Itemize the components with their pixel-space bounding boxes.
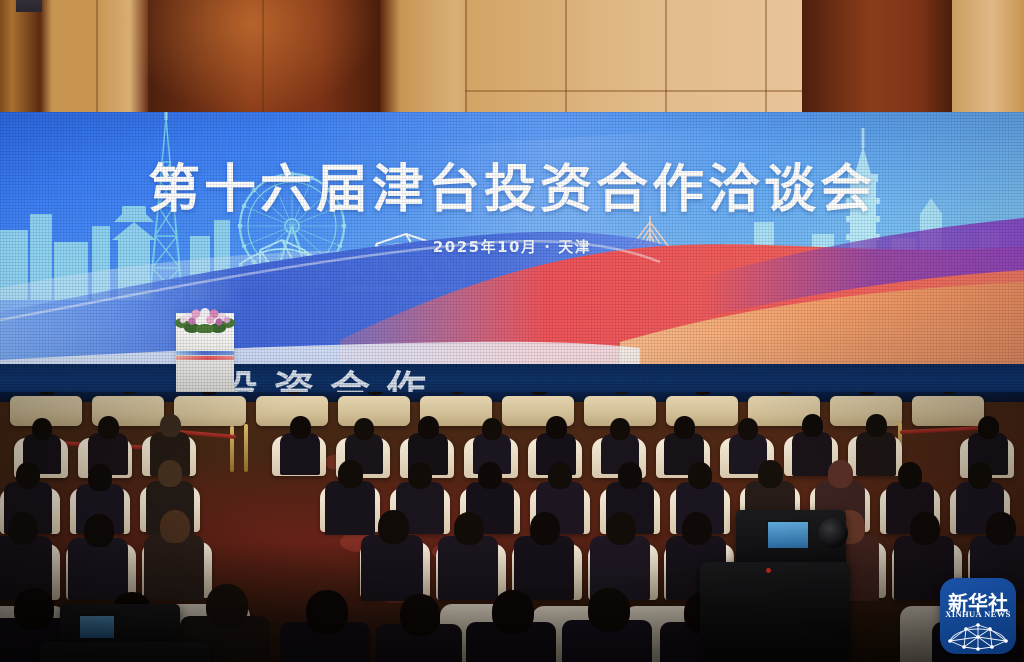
vip-seat <box>912 396 984 426</box>
wall-panel-dark-right <box>802 0 952 118</box>
video-camera <box>700 562 850 662</box>
wall-panel-far-right <box>952 0 1024 118</box>
speaker-podium <box>176 299 234 392</box>
stanchion-post <box>244 424 248 472</box>
led-backdrop-screen: 第十六届津台投资合作洽谈会 2025年10月 · 天津 <box>0 112 1024 392</box>
audience-hall <box>0 392 1024 662</box>
camera-record-light <box>766 568 771 573</box>
watermark-en-text: XINHUA NEWS <box>940 609 1016 619</box>
podium-flower-arrangement <box>174 303 236 333</box>
event-subtitle: 2025年10月 · 天津 <box>0 236 1024 257</box>
vip-seat <box>338 396 410 426</box>
podium-stripe-red <box>176 356 234 360</box>
speaker-at-podium <box>16 0 42 10</box>
podium-stripe-blue <box>176 351 234 355</box>
video-camera <box>40 642 210 662</box>
wall-light-glow <box>120 0 380 118</box>
event-title: 第十六届津台投资合作洽谈会 <box>0 164 1024 216</box>
xinhua-news-watermark: 新华社 XINHUA NEWS <box>940 578 1016 654</box>
screen-title-block: 第十六届津台投资合作洽谈会 2025年10月 · 天津 <box>0 164 1024 257</box>
vip-seat <box>174 396 246 426</box>
camera-lcd-screen <box>766 520 810 550</box>
stanchion-post <box>230 426 234 472</box>
screenshot-root: 第十六届津台投资合作洽谈会 2025年10月 · 天津 投资合作 <box>0 0 1024 662</box>
camera-lcd-screen <box>78 614 116 640</box>
network-globe-icon <box>946 619 1010 651</box>
camera-lens <box>818 518 848 548</box>
